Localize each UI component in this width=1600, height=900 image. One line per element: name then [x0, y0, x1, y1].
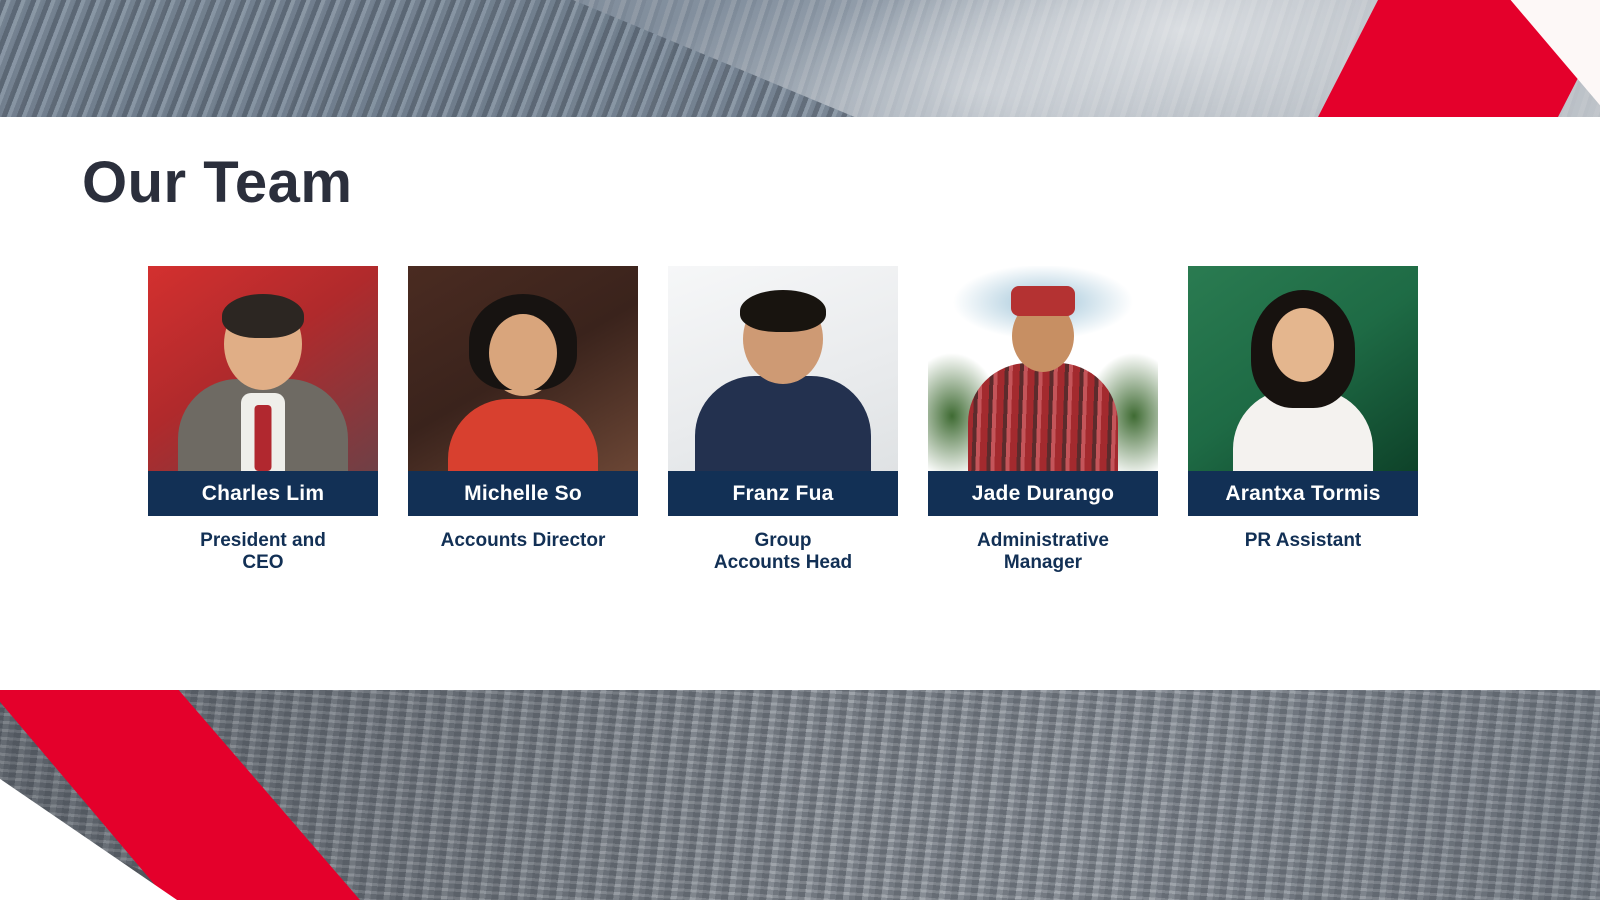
member-role: President and CEO [148, 530, 378, 574]
team-member-list: Charles Lim President and CEO Michelle S… [148, 266, 1452, 574]
member-name: Arantxa Tormis [1225, 482, 1380, 506]
team-member-card[interactable]: Arantxa Tormis PR Assistant [1188, 266, 1418, 574]
team-member-card[interactable]: Jade Durango Administrative Manager [928, 266, 1158, 574]
member-photo [1188, 266, 1418, 471]
figure-face [1272, 308, 1334, 382]
figure-face [489, 314, 557, 392]
slide-content: Our Team Charles Lim President and CEO [0, 117, 1600, 690]
member-name: Franz Fua [733, 482, 834, 506]
member-name-bar: Michelle So [408, 471, 638, 516]
figure-headdress [1011, 286, 1075, 316]
member-role: Accounts Director [408, 530, 638, 552]
member-name-bar: Franz Fua [668, 471, 898, 516]
member-name: Jade Durango [972, 482, 1114, 506]
member-role: Group Accounts Head [668, 530, 898, 574]
member-role: Administrative Manager [928, 530, 1158, 574]
member-photo [148, 266, 378, 471]
figure-tie [255, 405, 272, 471]
member-name-bar: Arantxa Tormis [1188, 471, 1418, 516]
team-member-card[interactable]: Michelle So Accounts Director [408, 266, 638, 574]
figure-hair [740, 290, 826, 332]
figure-body [695, 376, 871, 471]
member-role: PR Assistant [1188, 530, 1418, 552]
member-name-bar: Jade Durango [928, 471, 1158, 516]
figure-hair [222, 294, 304, 338]
team-member-card[interactable]: Charles Lim President and CEO [148, 266, 378, 574]
member-name: Michelle So [464, 482, 582, 506]
figure-body [968, 363, 1118, 471]
slide-our-team: Our Team Charles Lim President and CEO [0, 0, 1600, 900]
team-member-card[interactable]: Franz Fua Group Accounts Head [668, 266, 898, 574]
member-name: Charles Lim [202, 482, 324, 506]
member-photo [408, 266, 638, 471]
member-photo [928, 266, 1158, 471]
member-name-bar: Charles Lim [148, 471, 378, 516]
member-photo [668, 266, 898, 471]
page-title: Our Team [82, 149, 352, 216]
